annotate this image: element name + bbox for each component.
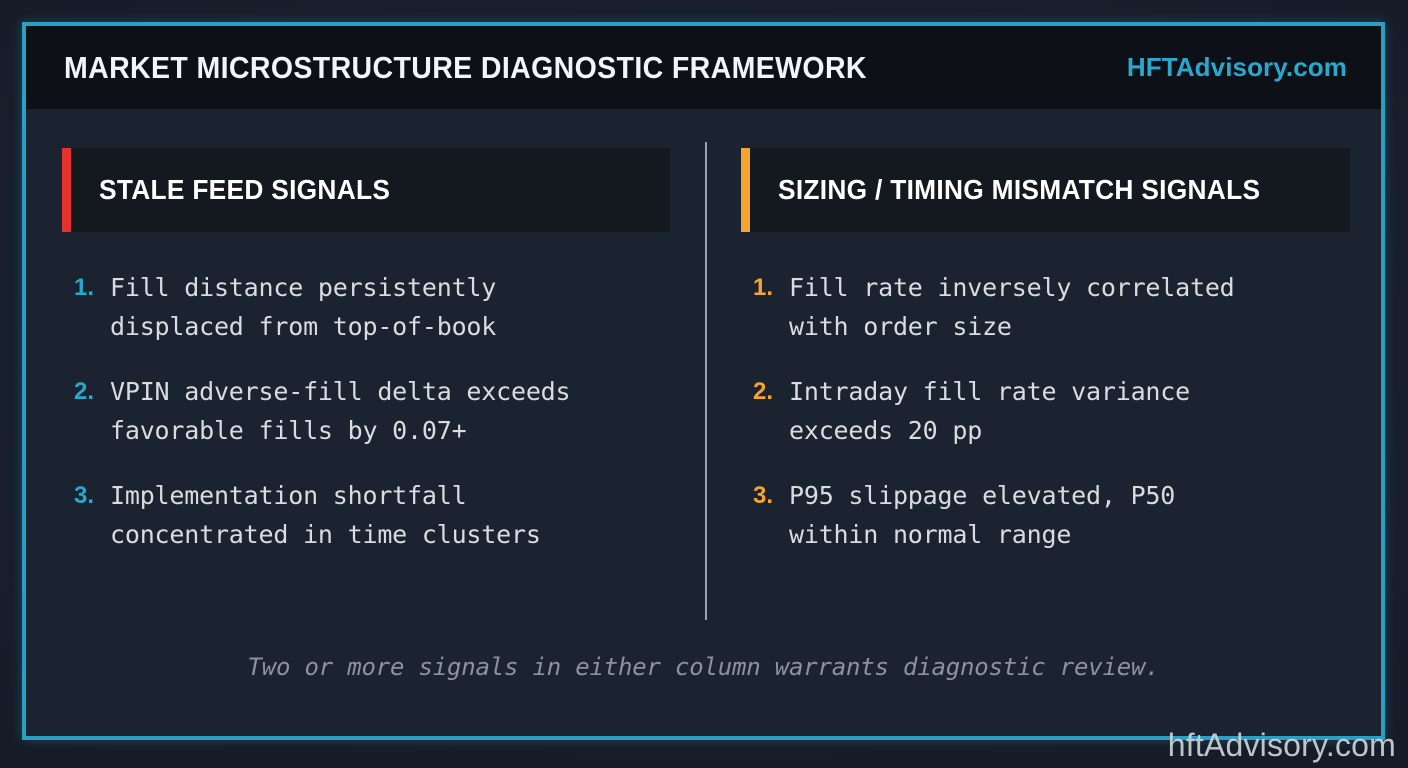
list-item-text: Fill distance persistently displaced fro… xyxy=(110,268,496,346)
page-title: MARKET MICROSTRUCTURE DIAGNOSTIC FRAMEWO… xyxy=(64,50,867,86)
column-sizing-timing-signals: SIZING / TIMING MISMATCH SIGNALS 1. Fill… xyxy=(705,109,1381,629)
signal-list-left: 1. Fill distance persistently displaced … xyxy=(62,268,705,554)
list-item-number: 2. xyxy=(741,372,789,411)
brand-label: HFTAdvisory.com xyxy=(1127,52,1347,83)
accent-bar-orange xyxy=(741,148,750,232)
list-item: 3. Implementation shortfall concentrated… xyxy=(62,476,705,554)
list-item: 3. P95 slippage elevated, P50 within nor… xyxy=(741,476,1381,554)
title-bar: MARKET MICROSTRUCTURE DIAGNOSTIC FRAMEWO… xyxy=(26,26,1381,109)
list-item-text: P95 slippage elevated, P50 within normal… xyxy=(789,476,1175,554)
accent-bar-red xyxy=(62,148,71,232)
column-title-left: STALE FEED SIGNALS xyxy=(99,174,390,206)
column-header-stale-feed: STALE FEED SIGNALS xyxy=(62,148,670,232)
list-item: 2. VPIN adverse-fill delta exceeds favor… xyxy=(62,372,705,450)
list-item-number: 2. xyxy=(62,372,110,411)
column-stale-feed-signals: STALE FEED SIGNALS 1. Fill distance pers… xyxy=(26,109,705,629)
list-item-text: Fill rate inversely correlated with orde… xyxy=(789,268,1235,346)
list-item: 2. Intraday fill rate variance exceeds 2… xyxy=(741,372,1381,450)
slide-canvas: MARKET MICROSTRUCTURE DIAGNOSTIC FRAMEWO… xyxy=(0,0,1408,768)
column-title-right: SIZING / TIMING MISMATCH SIGNALS xyxy=(778,174,1260,206)
list-item-text: Implementation shortfall concentrated in… xyxy=(110,476,541,554)
list-item-text: Intraday fill rate variance exceeds 20 p… xyxy=(789,372,1190,450)
list-item-number: 3. xyxy=(62,476,110,515)
list-item-text: VPIN adverse-fill delta exceeds favorabl… xyxy=(110,372,570,450)
list-item-number: 1. xyxy=(741,268,789,307)
signal-columns: STALE FEED SIGNALS 1. Fill distance pers… xyxy=(26,109,1381,629)
column-header-sizing-timing: SIZING / TIMING MISMATCH SIGNALS xyxy=(741,148,1350,232)
list-item: 1. Fill distance persistently displaced … xyxy=(62,268,705,346)
watermark-label: hftAdvisory.com xyxy=(1168,727,1396,764)
list-item-number: 3. xyxy=(741,476,789,515)
signal-list-right: 1. Fill rate inversely correlated with o… xyxy=(741,268,1381,554)
list-item-number: 1. xyxy=(62,268,110,307)
content-area: STALE FEED SIGNALS 1. Fill distance pers… xyxy=(26,109,1381,736)
list-item: 1. Fill rate inversely correlated with o… xyxy=(741,268,1381,346)
footnote-text: Two or more signals in either column war… xyxy=(26,653,1381,681)
